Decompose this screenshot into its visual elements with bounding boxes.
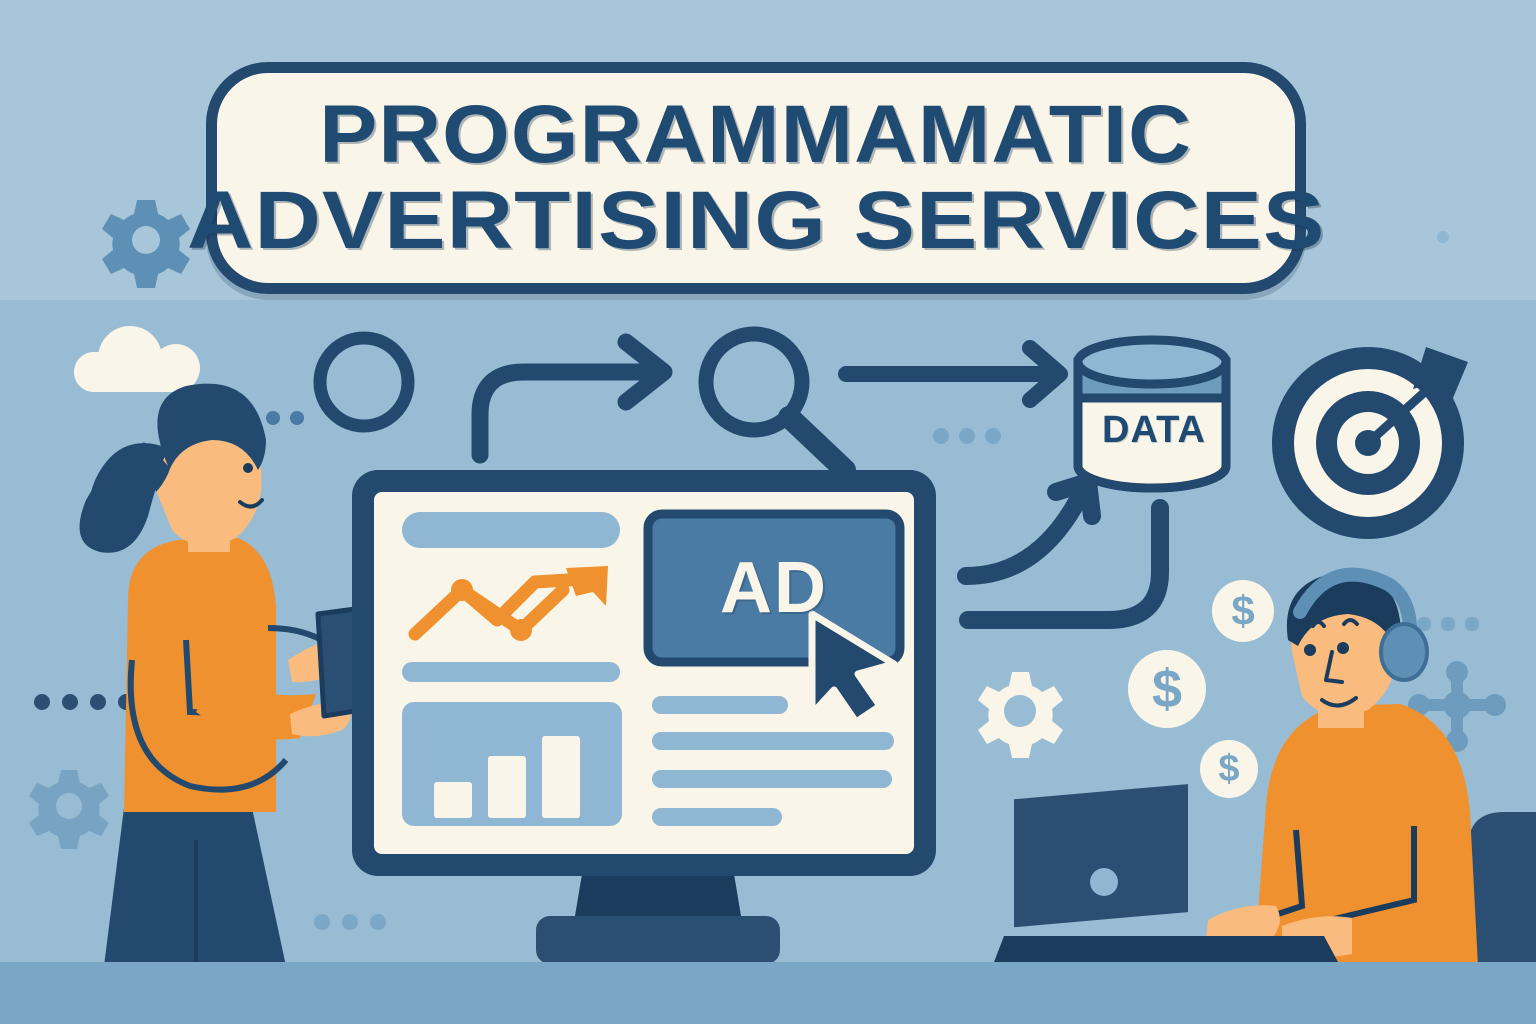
dots-right-mid [1417,617,1479,631]
laptop-base [994,936,1338,962]
coin-icon [1128,650,1206,728]
screen-bar [542,736,580,818]
dots-center [933,428,1001,444]
dots-far-right-top [1437,231,1449,243]
database-cylinder-icon [1078,340,1226,488]
headphone-cup-icon [1381,624,1427,680]
screen-top-placeholder-bar [402,512,620,548]
monitor-base [536,916,780,964]
page-title-line-2: ADVERTISING SERVICES [187,181,1325,261]
page-title-line-1: PROGRAMMAMATIC [320,95,1193,175]
laptop-screen [1014,784,1188,927]
screen-text-line [652,732,894,750]
screen-bar [434,782,472,818]
screen-bar-chart [402,702,622,826]
screen-mid-placeholder-bar [402,662,620,682]
coin-icon [1212,580,1274,642]
screen-ad-banner [648,514,900,662]
title-banner: PROGRAMMAMATIC ADVERTISING SERVICES [206,62,1306,294]
dots-bottom-center [314,914,386,930]
screen-text-line [652,808,782,826]
illustration-canvas: PROGRAMMAMATIC ADVERTISING SERVICES AD D… [0,0,1536,1024]
screen-text-line [652,770,892,788]
screen-text-line [652,696,788,714]
laptop-logo-icon [1090,868,1118,896]
screen-bar [488,756,526,818]
coin-icon [1200,740,1258,798]
